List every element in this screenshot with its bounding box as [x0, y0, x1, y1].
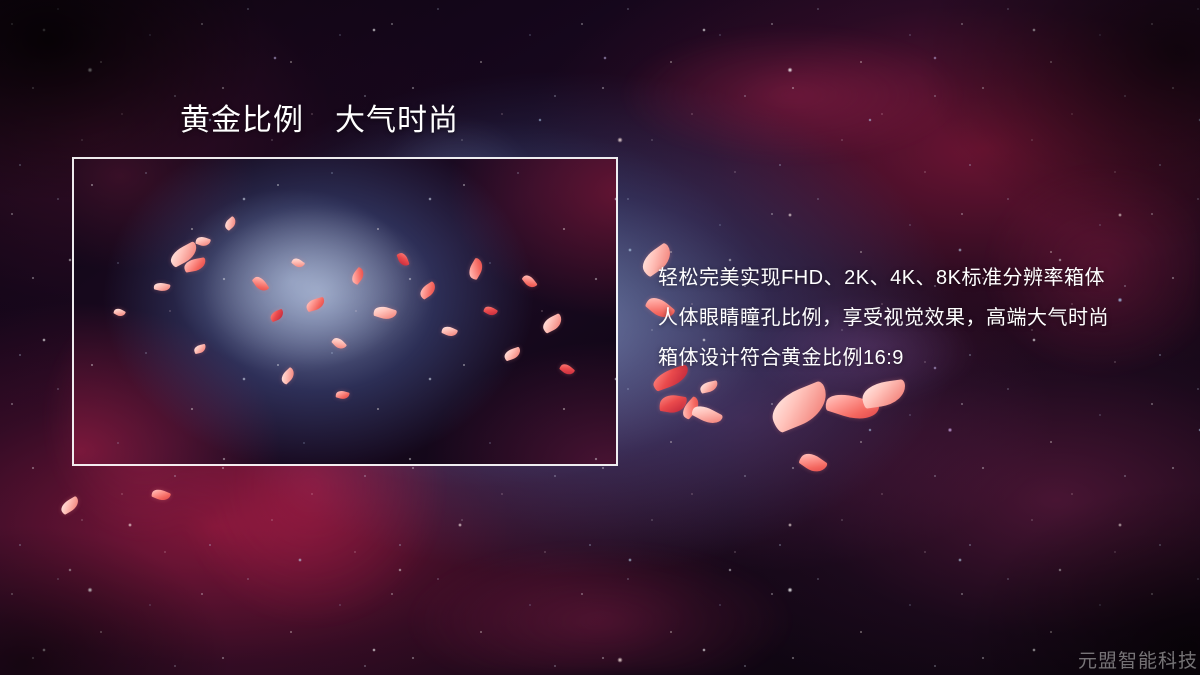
body-line-1: 轻松完美实现FHD、2K、4K、8K标准分辨率箱体	[658, 258, 1178, 298]
body-line-2: 人体眼睛瞳孔比例，享受视觉效果，高端大气时尚	[658, 298, 1178, 338]
flower-petal-icon	[659, 393, 688, 415]
flower-petal-icon	[798, 449, 828, 477]
framed-core-glow	[74, 159, 616, 464]
page-title: 黄金比例 大气时尚	[180, 102, 459, 140]
flower-petal-icon	[699, 380, 719, 394]
body-line-3: 箱体设计符合黄金比例16:9	[658, 338, 1178, 378]
body-copy: 轻松完美实现FHD、2K、4K、8K标准分辨率箱体 人体眼睛瞳孔比例，享受视觉效…	[658, 258, 1178, 378]
flower-petal-icon	[690, 402, 723, 428]
watermark: 元盟智能科技	[1078, 646, 1198, 673]
flower-petal-icon	[861, 379, 908, 409]
flower-petal-icon	[679, 396, 703, 420]
presentation-slide: 黄金比例 大气时尚 轻松完美实现FHD、2K、4K、8K标准分辨率箱体 人体眼睛…	[0, 0, 1200, 675]
flower-petal-icon	[151, 487, 171, 503]
framed-image	[72, 157, 618, 466]
framed-image-inner	[74, 159, 616, 464]
flower-petal-icon	[824, 389, 880, 426]
flower-petal-icon	[766, 380, 834, 434]
flower-petal-icon	[59, 496, 82, 516]
